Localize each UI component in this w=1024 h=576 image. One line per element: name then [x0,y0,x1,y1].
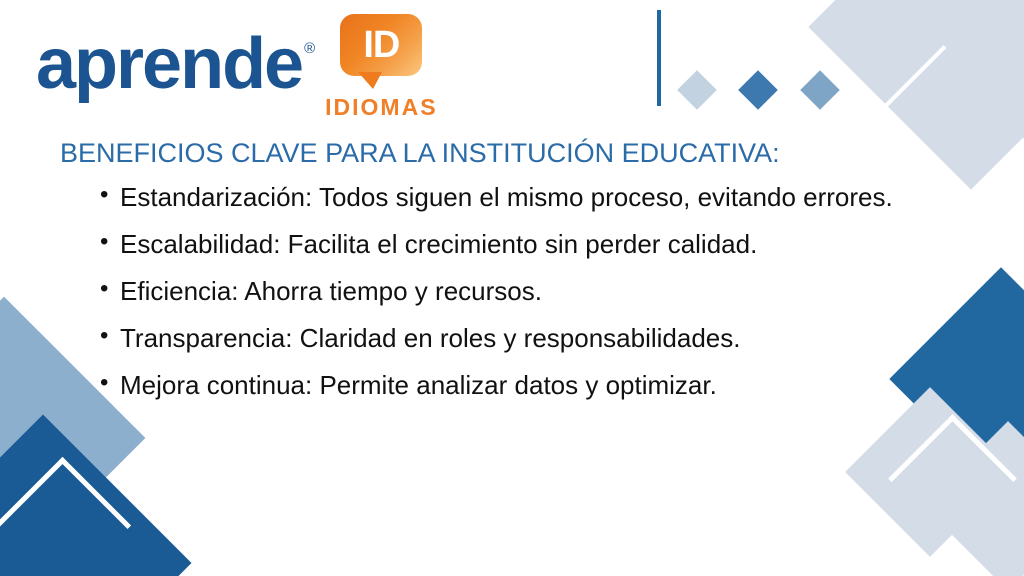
accent-diamond-one [677,70,717,110]
logo-subtitle: IDIOMAS [325,94,437,121]
list-item: Eficiencia: Ahorra tiempo y recursos. [120,274,970,309]
list-item: Estandarización: Todos siguen el mismo p… [120,180,950,215]
logo-id-text: ID [363,26,399,64]
brand-logo: aprende ® ID IDIOMAS [36,14,438,121]
vertical-accent-rule [657,10,661,106]
page-title: BENEFICIOS CLAVE PARA LA INSTITUCIÓN EDU… [60,138,780,169]
accent-diamond-two [738,70,778,110]
speech-bubble-icon: ID [340,14,422,76]
registered-trademark-icon: ® [304,40,315,57]
logo-id-group: ID IDIOMAS [325,14,437,121]
logo-wordmark: aprende [36,28,302,100]
list-item: Mejora continua: Permite analizar datos … [120,368,970,403]
list-item: Transparencia: Claridad en roles y respo… [120,321,970,356]
list-item: Escalabilidad: Facilita el crecimiento s… [120,227,970,262]
benefits-list: Estandarización: Todos siguen el mismo p… [98,180,970,415]
slide-canvas: aprende ® ID IDIOMAS BENEFICIOS CLAVE PA… [0,0,1024,576]
